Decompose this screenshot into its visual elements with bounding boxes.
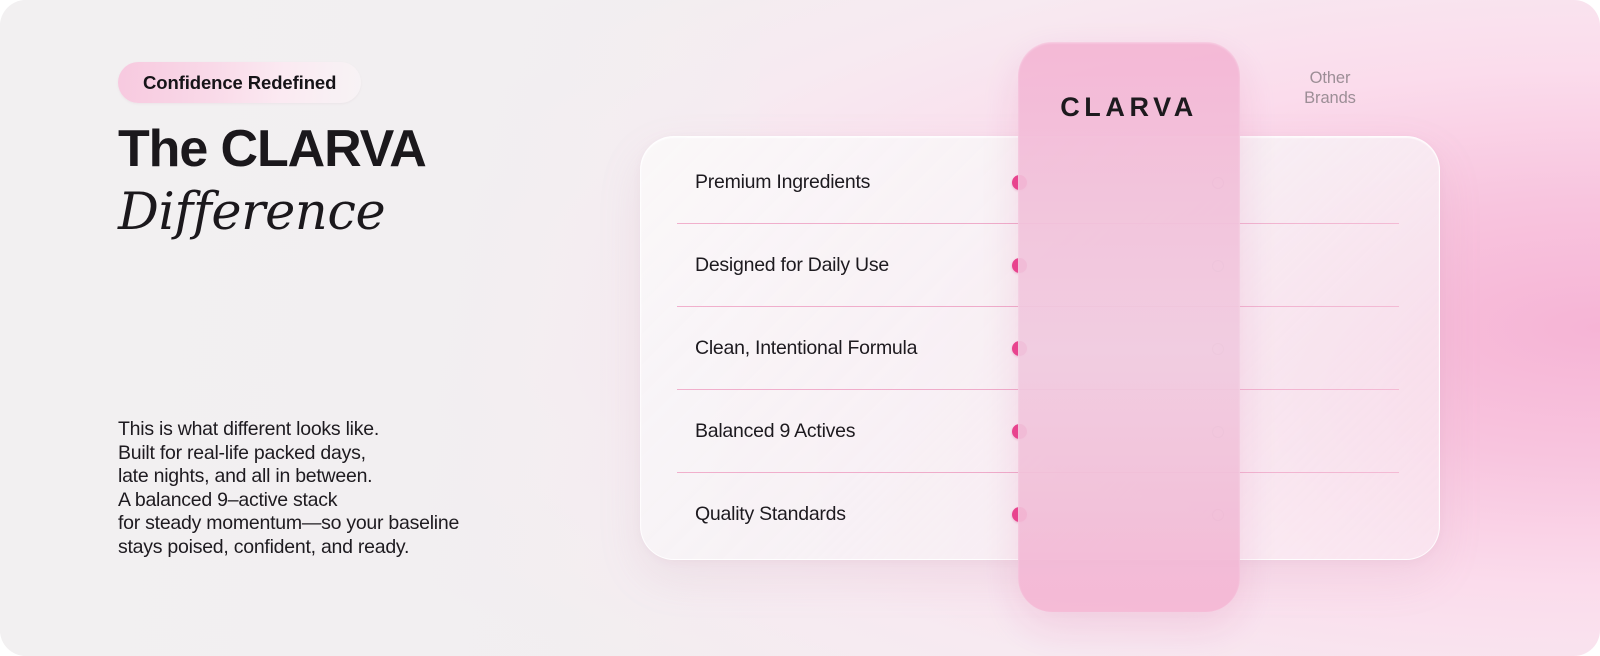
row-feature-label: Premium Ingredients [695, 171, 870, 194]
description-line: stays poised, confident, and ready. [118, 536, 578, 560]
other-brands-label-line2: Brands [1240, 88, 1420, 108]
row-feature-label: Clean, Intentional Formula [695, 337, 917, 360]
description-line: A balanced 9–active stack [118, 489, 578, 513]
headline-secondary: Difference [118, 182, 588, 243]
row-feature-label: Quality Standards [695, 503, 846, 526]
confidence-badge-label: Confidence Redefined [143, 72, 336, 94]
row-feature-label: Designed for Daily Use [695, 254, 889, 277]
clarva-logo: CLARVA [1018, 92, 1240, 123]
clarva-highlight-column: CLARVA [1018, 42, 1240, 612]
other-brands-column-header: Other Brands [1240, 68, 1420, 108]
description-line: Built for real-life packed days, [118, 442, 578, 466]
other-brands-label-line1: Other [1240, 68, 1420, 88]
description-line: late nights, and all in between. [118, 465, 578, 489]
row-feature-label: Balanced 9 Actives [695, 420, 855, 443]
hero-description: This is what different looks like. Built… [118, 418, 578, 560]
description-line: for steady momentum—so your baseline [118, 512, 578, 536]
headline-primary: The CLARVA [118, 120, 588, 180]
description-line: This is what different looks like. [118, 418, 578, 442]
page-title: The CLARVA Difference [118, 120, 588, 243]
promo-canvas: Confidence Redefined The CLARVA Differen… [0, 0, 1600, 656]
confidence-badge: Confidence Redefined [118, 62, 361, 103]
hero-text-panel: Confidence Redefined The CLARVA Differen… [118, 0, 588, 656]
